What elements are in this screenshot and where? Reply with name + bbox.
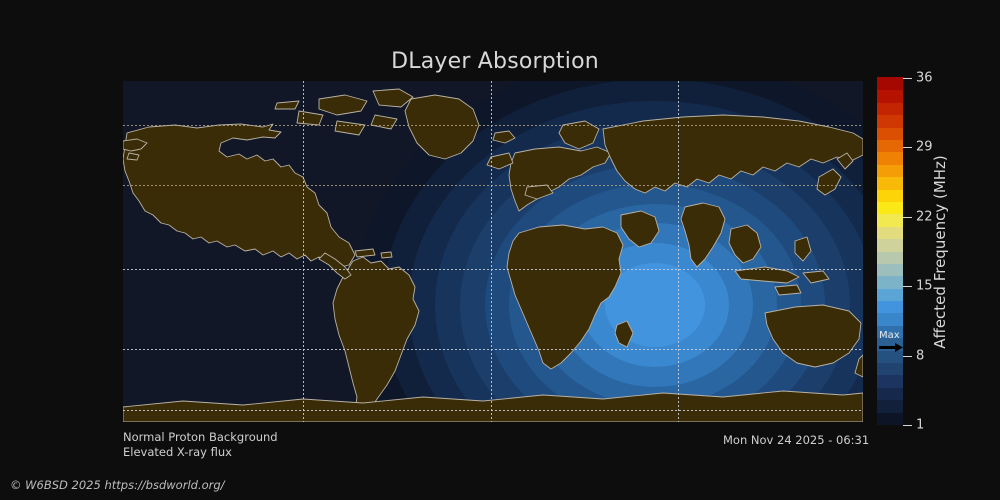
copyright-text: © W6BSD 2025 https://bsdworld.org/ xyxy=(10,478,225,492)
colorbar-band xyxy=(877,362,903,375)
world-map[interactable] xyxy=(123,81,863,422)
gridline-tropic-cancer xyxy=(123,185,863,186)
colorbar-band xyxy=(877,214,903,227)
coastline-layer xyxy=(123,81,863,422)
colorbar[interactable] xyxy=(877,78,903,425)
colorbar-tick xyxy=(903,78,912,79)
colorbar-band xyxy=(877,139,903,152)
colorbar-band xyxy=(877,77,903,90)
proton-status-text: Normal Proton Background xyxy=(123,430,278,444)
colorbar-band xyxy=(877,263,903,276)
gridline-vertical-3 xyxy=(678,81,679,422)
colorbar-tick xyxy=(903,147,912,148)
gridline-tropic-capricorn xyxy=(123,349,863,350)
colorbar-band xyxy=(877,276,903,289)
colorbar-axis-title: Affected Frequency (MHz) xyxy=(929,78,951,425)
gridline-antarctic-circle xyxy=(123,410,863,411)
colorbar-tick xyxy=(903,356,912,357)
colorbar-band xyxy=(877,90,903,103)
colorbar-band xyxy=(877,400,903,413)
xray-status-text: Elevated X-ray flux xyxy=(123,445,232,459)
gridline-equator xyxy=(123,269,863,270)
colorbar-band xyxy=(877,350,903,363)
colorbar-band xyxy=(877,127,903,140)
gridline-vertical-1 xyxy=(303,81,304,422)
colorbar-band xyxy=(877,177,903,190)
colorbar-band xyxy=(877,251,903,264)
colorbar-band xyxy=(877,412,903,425)
colorbar-band xyxy=(877,189,903,202)
colorbar-band xyxy=(877,288,903,301)
colorbar-tick xyxy=(903,217,912,218)
colorbar-band xyxy=(877,102,903,115)
colorbar-max-label: Max xyxy=(879,331,900,341)
dlayer-absorption-plot: DLayer Absorption xyxy=(0,0,1000,500)
timestamp-text: Mon Nov 24 2025 - 06:31 xyxy=(723,433,869,447)
colorbar-band xyxy=(877,201,903,214)
page-title: DLayer Absorption xyxy=(0,49,990,74)
colorbar-tick xyxy=(903,425,912,426)
colorbar-band xyxy=(877,300,903,313)
gridline-vertical-2 xyxy=(491,81,492,422)
colorbar-tick xyxy=(903,286,912,287)
colorbar-band xyxy=(877,226,903,239)
colorbar-axis-title-text: Affected Frequency (MHz) xyxy=(931,155,949,349)
colorbar-band xyxy=(877,152,903,165)
colorbar-band xyxy=(877,115,903,128)
colorbar-band xyxy=(877,387,903,400)
colorbar-max-arrow-icon xyxy=(879,343,903,352)
colorbar-band xyxy=(877,313,903,326)
gridline-arctic-circle xyxy=(123,125,863,126)
colorbar-gradient xyxy=(877,78,903,425)
colorbar-band xyxy=(877,375,903,388)
colorbar-tick-label: 8 xyxy=(916,348,924,363)
colorbar-tick-label: 1 xyxy=(916,418,924,433)
colorbar-band xyxy=(877,164,903,177)
colorbar-band xyxy=(877,239,903,252)
